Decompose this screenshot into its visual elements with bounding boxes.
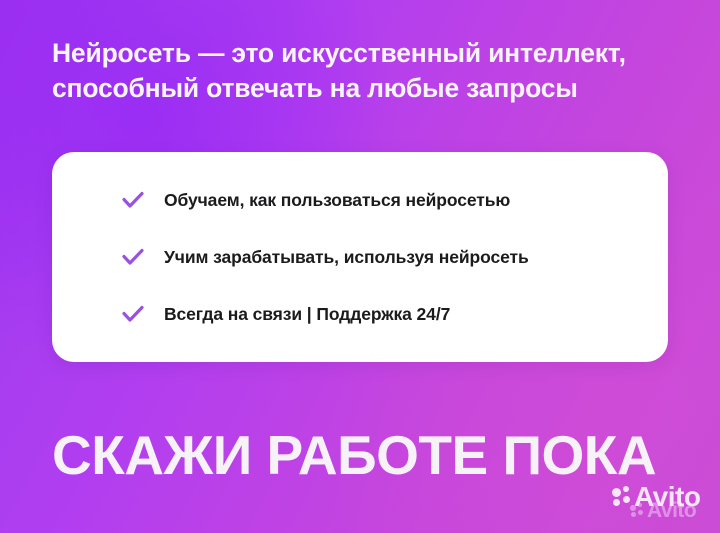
avito-watermark: Avito Avito <box>608 481 712 527</box>
list-item-label: Обучаем, как пользоваться нейросетью <box>164 190 510 211</box>
promo-banner: Нейросеть — это искусственный интеллект,… <box>0 0 720 533</box>
list-item-label: Учим зарабатывать, используя нейросеть <box>164 247 529 268</box>
list-item: Обучаем, как пользоваться нейросетью <box>52 182 668 218</box>
slogan-text: СКАЖИ РАБОТЕ ПОКА <box>52 424 656 486</box>
headline-line-1: Нейросеть — это искусственный интеллект, <box>52 36 682 71</box>
headline-line-2: способный отвечать на любые запросы <box>52 71 682 106</box>
list-item: Учим зарабатывать, используя нейросеть <box>52 239 668 275</box>
page-title: Нейросеть — это искусственный интеллект,… <box>52 36 682 106</box>
list-item: Всегда на связи | Поддержка 24/7 <box>52 296 668 332</box>
check-icon <box>120 301 146 327</box>
avito-logo-dots-icon <box>612 486 631 508</box>
avito-watermark-label: Avito <box>634 481 700 513</box>
check-icon <box>120 244 146 270</box>
avito-watermark-main: Avito <box>612 481 700 513</box>
feature-card: Обучаем, как пользоваться нейросетью Учи… <box>52 152 668 362</box>
check-icon <box>120 187 146 213</box>
feature-list: Обучаем, как пользоваться нейросетью Учи… <box>52 182 668 332</box>
list-item-label: Всегда на связи | Поддержка 24/7 <box>164 304 450 325</box>
